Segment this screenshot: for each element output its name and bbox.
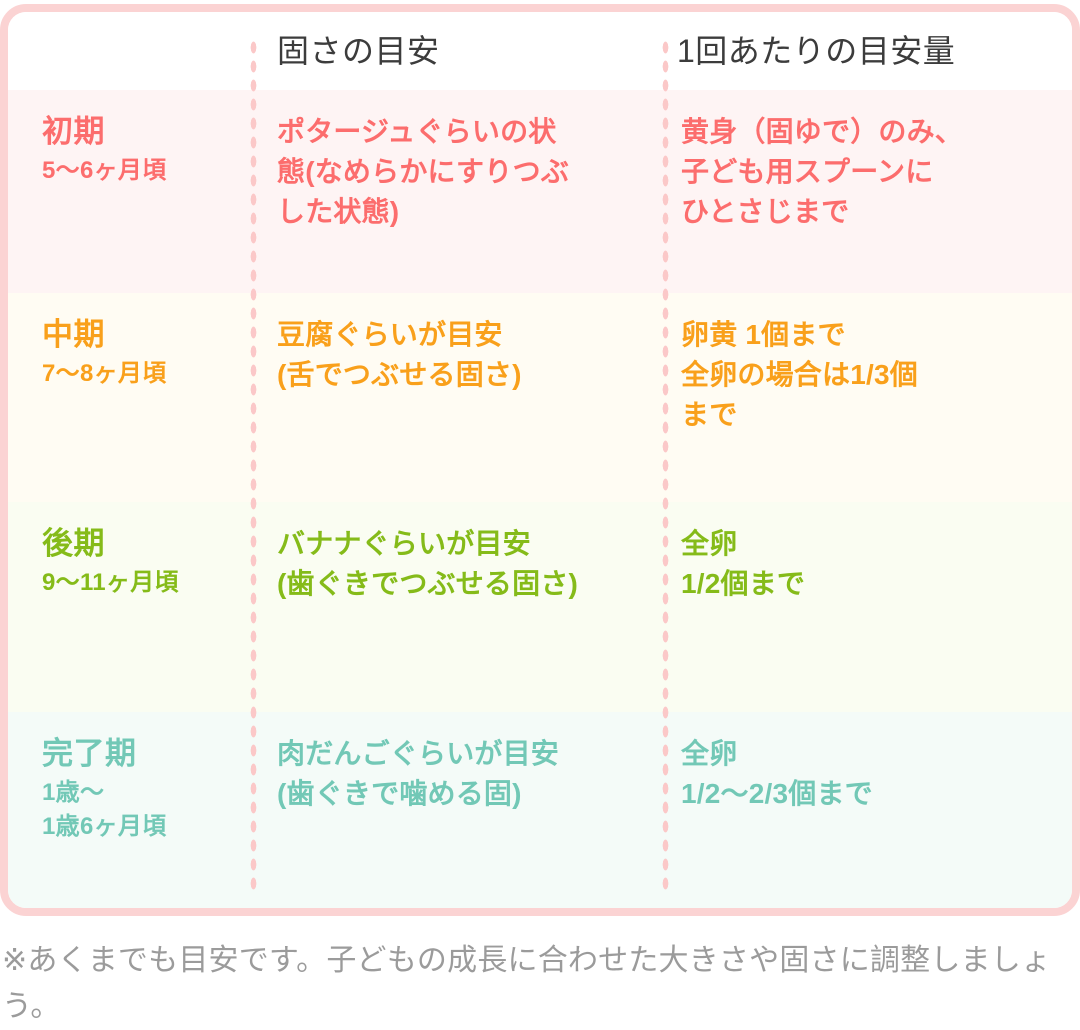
row-3-stage-age: 9〜11ヶ月頃	[42, 566, 245, 600]
row-1-amount-text: 黄身（固ゆで）のみ、 子ども用スプーンに ひとさじまで	[681, 112, 1054, 231]
table-row: 初期 5〜6ヶ月頃 ポタージュぐらいの状 態(なめらかにすりつぶ した状態) 黄…	[8, 90, 1072, 293]
table-header-row: 固さの目安 1回あたりの目安量	[8, 12, 1072, 90]
table-grid: 固さの目安 1回あたりの目安量 初期 5〜6ヶ月頃 ポタージュぐらいの状 態(な…	[8, 12, 1072, 908]
page-root: 固さの目安 1回あたりの目安量 初期 5〜6ヶ月頃 ポタージュぐらいの状 態(な…	[0, 0, 1080, 1030]
row-2-amount-text: 卵黄 1個まで 全卵の場合は1/3個 まで	[681, 315, 1054, 434]
row-3-cell-firmness: バナナぐらいが目安 (歯ぐきでつぶせる固さ)	[245, 502, 645, 712]
row-1-stage-age: 5〜6ヶ月頃	[42, 154, 245, 188]
header-cell-firmness: 固さの目安	[245, 12, 645, 90]
row-4-cell-stage: 完了期 1歳〜 1歳6ヶ月頃	[8, 712, 245, 916]
row-3-stage-name: 後期	[42, 524, 245, 564]
row-4-stage-name: 完了期	[42, 734, 245, 774]
row-2-cell-firmness: 豆腐ぐらいが目安 (舌でつぶせる固さ)	[245, 293, 645, 502]
row-4-stage-age: 1歳〜 1歳6ヶ月頃	[42, 776, 245, 844]
row-4-firmness-text: 肉だんごぐらいが目安 (歯ぐきで噛める固)	[277, 734, 633, 814]
header-amount-label: 1回あたりの目安量	[645, 32, 955, 70]
footnote-text: ※あくまでも目安です。子どもの成長に合わせた大きさや固さに調整しましょう。	[2, 938, 1072, 1029]
row-3-amount-text: 全卵 1/2個まで	[681, 524, 1054, 604]
header-cell-stage	[8, 12, 245, 90]
header-cell-amount: 1回あたりの目安量	[645, 12, 1072, 90]
table-row: 完了期 1歳〜 1歳6ヶ月頃 肉だんごぐらいが目安 (歯ぐきで噛める固) 全卵 …	[8, 712, 1072, 916]
row-2-cell-stage: 中期 7〜8ヶ月頃	[8, 293, 245, 502]
row-1-cell-firmness: ポタージュぐらいの状 態(なめらかにすりつぶ した状態)	[245, 90, 645, 293]
row-2-stage-age: 7〜8ヶ月頃	[42, 357, 245, 391]
row-4-cell-firmness: 肉だんごぐらいが目安 (歯ぐきで噛める固)	[245, 712, 645, 916]
row-1-cell-amount: 黄身（固ゆで）のみ、 子ども用スプーンに ひとさじまで	[645, 90, 1072, 293]
table-row: 中期 7〜8ヶ月頃 豆腐ぐらいが目安 (舌でつぶせる固さ) 卵黄 1個まで 全卵…	[8, 293, 1072, 502]
row-3-cell-stage: 後期 9〜11ヶ月頃	[8, 502, 245, 712]
table-row: 後期 9〜11ヶ月頃 バナナぐらいが目安 (歯ぐきでつぶせる固さ) 全卵 1/2…	[8, 502, 1072, 712]
row-2-cell-amount: 卵黄 1個まで 全卵の場合は1/3個 まで	[645, 293, 1072, 502]
row-1-cell-stage: 初期 5〜6ヶ月頃	[8, 90, 245, 293]
header-firmness-label: 固さの目安	[245, 32, 440, 70]
row-4-amount-text: 全卵 1/2〜2/3個まで	[681, 734, 1054, 814]
row-1-firmness-text: ポタージュぐらいの状 態(なめらかにすりつぶ した状態)	[277, 112, 633, 231]
row-1-stage-name: 初期	[42, 112, 245, 152]
row-2-stage-name: 中期	[42, 315, 245, 355]
baby-food-egg-guide-table: 固さの目安 1回あたりの目安量 初期 5〜6ヶ月頃 ポタージュぐらいの状 態(な…	[0, 4, 1080, 916]
row-3-firmness-text: バナナぐらいが目安 (歯ぐきでつぶせる固さ)	[277, 524, 633, 604]
row-3-cell-amount: 全卵 1/2個まで	[645, 502, 1072, 712]
row-4-cell-amount: 全卵 1/2〜2/3個まで	[645, 712, 1072, 916]
row-2-firmness-text: 豆腐ぐらいが目安 (舌でつぶせる固さ)	[277, 315, 633, 395]
